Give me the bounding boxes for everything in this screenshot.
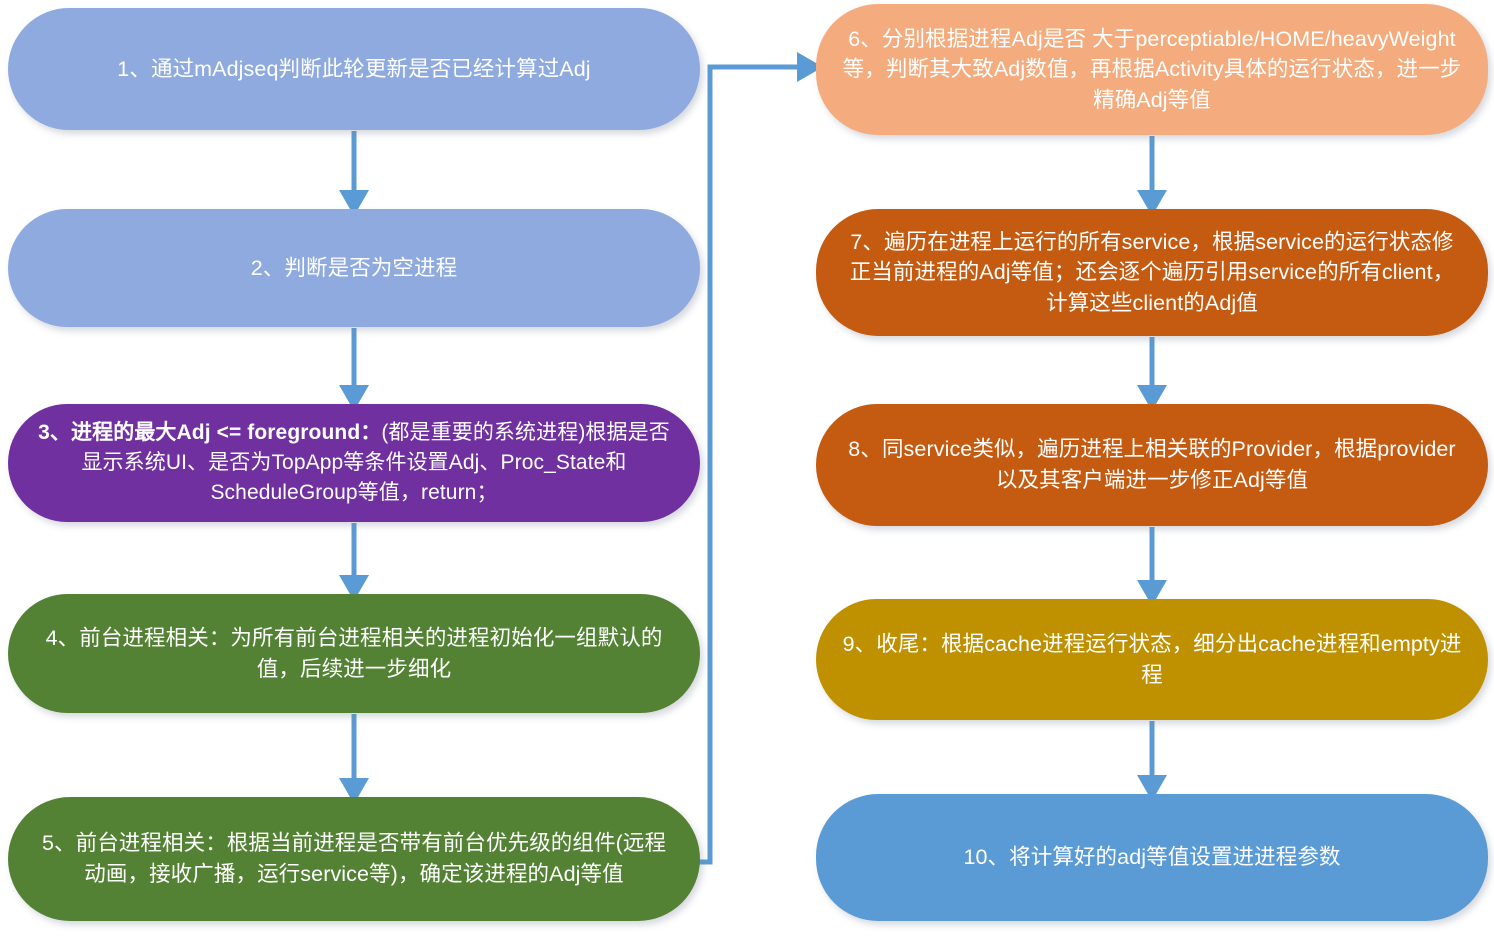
flow-node-6[interactable]: 6、分别根据进程Adj是否 大于perceptiable/HOME/heavyW… xyxy=(816,4,1488,135)
flow-node-2[interactable]: 2、判断是否为空进程 xyxy=(8,209,700,327)
flow-node-4-label: 4、前台进程相关：为所有前台进程相关的进程初始化一组默认的值，后续进一步细化 xyxy=(34,623,674,684)
flow-node-10-label: 10、将计算好的adj等值设置进进程参数 xyxy=(842,842,1462,873)
flow-node-7[interactable]: 7、遍历在进程上运行的所有service，根据service的运行状态修正当前进… xyxy=(816,209,1488,336)
flow-node-3[interactable]: 3、进程的最大Adj <= foreground：(都是重要的系统进程)根据是否… xyxy=(8,404,700,522)
flow-node-2-label: 2、判断是否为空进程 xyxy=(34,253,674,284)
flow-node-9[interactable]: 9、收尾：根据cache进程运行状态，细分出cache进程和empty进程 xyxy=(816,599,1488,720)
flowchart-canvas: 1、通过mAdjseq判断此轮更新是否已经计算过Adj 2、判断是否为空进程 3… xyxy=(0,0,1494,936)
flow-node-6-label: 6、分别根据进程Adj是否 大于perceptiable/HOME/heavyW… xyxy=(842,24,1462,116)
edge-n5-n6 xyxy=(690,67,803,862)
flow-node-3-label: 3、进程的最大Adj <= foreground：(都是重要的系统进程)根据是否… xyxy=(34,418,674,507)
flow-node-8[interactable]: 8、同service类似，遍历进程上相关联的Provider，根据provide… xyxy=(816,404,1488,526)
flow-node-7-label: 7、遍历在进程上运行的所有service，根据service的运行状态修正当前进… xyxy=(842,227,1462,319)
flow-node-4[interactable]: 4、前台进程相关：为所有前台进程相关的进程初始化一组默认的值，后续进一步细化 xyxy=(8,594,700,713)
flow-node-1-label: 1、通过mAdjseq判断此轮更新是否已经计算过Adj xyxy=(34,54,674,85)
flow-node-1[interactable]: 1、通过mAdjseq判断此轮更新是否已经计算过Adj xyxy=(8,8,700,130)
flow-node-5-label: 5、前台进程相关：根据当前进程是否带有前台优先级的组件(远程动画，接收广播，运行… xyxy=(34,828,674,889)
flow-node-8-label: 8、同service类似，遍历进程上相关联的Provider，根据provide… xyxy=(842,434,1462,495)
flow-node-9-label: 9、收尾：根据cache进程运行状态，细分出cache进程和empty进程 xyxy=(842,629,1462,690)
flow-node-10[interactable]: 10、将计算好的adj等值设置进进程参数 xyxy=(816,794,1488,921)
flow-node-3-label-bold: 3、进程的最大Adj <= foreground： xyxy=(38,421,381,444)
flow-node-5[interactable]: 5、前台进程相关：根据当前进程是否带有前台优先级的组件(远程动画，接收广播，运行… xyxy=(8,797,700,921)
